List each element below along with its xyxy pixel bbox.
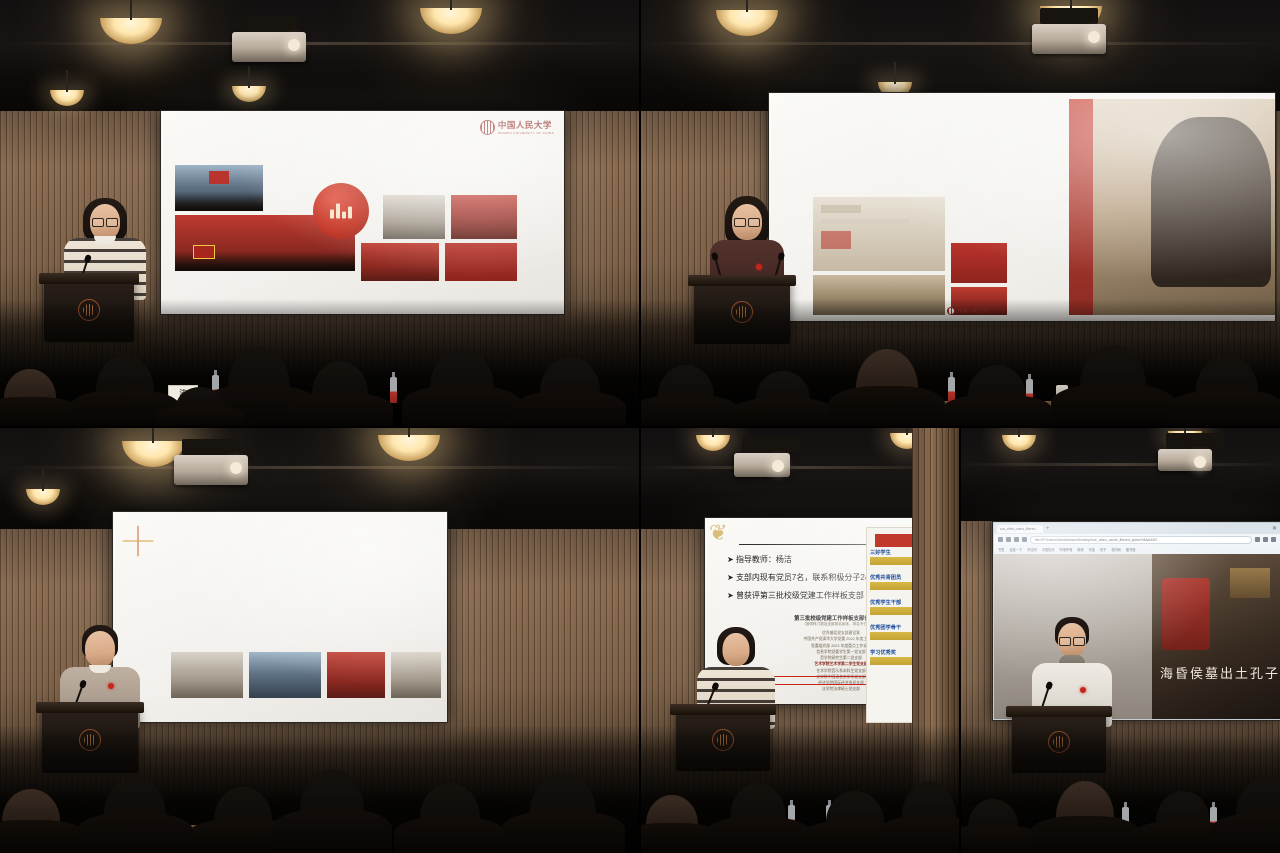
ceiling-projector <box>1158 449 1212 471</box>
glasses-icon <box>1059 637 1085 644</box>
maximize-icon[interactable] <box>1263 537 1268 542</box>
university-logo: 中国人民大学 RENMIN UNIVERSITY OF CHINA <box>480 119 554 135</box>
slide-photo-activity <box>951 243 1007 283</box>
bookmark-item[interactable]: 微博 <box>1077 547 1083 552</box>
bookmark-item[interactable]: 书签 <box>998 547 1004 552</box>
audience-head <box>1080 345 1146 427</box>
bookmark-item[interactable]: 知乎 <box>1100 547 1106 552</box>
photo-collage: 强化理论武装，夯实思想根基 中国人民大学 RENMIN UNIVERSITY O… <box>0 0 1280 853</box>
ornament-icon: ❦ <box>709 522 727 544</box>
audience-head <box>214 787 272 853</box>
collage-seam-vertical <box>959 427 961 853</box>
panel-top-right: 02 党建与专业深度融合 党建引领设计实践，服务社会与校园 • 艺术振兴乡村 "… <box>640 0 1280 427</box>
audience-head <box>968 365 1026 427</box>
head <box>723 633 750 666</box>
ceiling-projector <box>1032 24 1106 54</box>
slide-photo-room <box>383 195 445 239</box>
projection-screen: 02 党建与专业深度融合 党建引领设计实践，服务社会与校园 • 艺术振兴乡村 "… <box>768 92 1276 322</box>
slide-photo-group <box>361 243 439 281</box>
browser-toolbar: file:///F:/Users/Administrator/Desktop/h… <box>994 534 1280 545</box>
forward-icon[interactable] <box>1006 537 1011 542</box>
audience-head <box>902 781 956 853</box>
audience-head <box>1056 781 1114 853</box>
audience-head <box>756 371 810 427</box>
video-caption: 海昏侯墓出土孔子衣镜 <box>1160 663 1280 682</box>
bookmark-item[interactable]: 中国知网 <box>1042 547 1055 552</box>
audience-head <box>730 783 786 853</box>
audience-head <box>856 349 918 427</box>
video-frame <box>1152 554 1280 719</box>
audience-head <box>530 773 596 853</box>
close-icon[interactable]: ✕ <box>1272 526 1277 532</box>
audience-head <box>646 795 698 853</box>
ceiling-projector <box>232 32 306 62</box>
lapel-pin <box>756 264 762 270</box>
lock-icon <box>1022 537 1027 542</box>
slide-bullet-1: ➤ 指导教师：杨洁 <box>727 554 792 565</box>
audience-head <box>540 357 600 427</box>
slide-photo-group <box>451 195 517 239</box>
audience-head <box>96 355 154 427</box>
audience-head <box>300 769 364 853</box>
panel-top-left: 强化理论武装，夯实思想根基 中国人民大学 RENMIN UNIVERSITY O… <box>0 0 640 427</box>
university-seal-icon <box>480 120 495 135</box>
bookmark-item[interactable]: 图书馆 <box>1126 547 1136 552</box>
audience-head <box>826 791 884 853</box>
bookmark-item[interactable]: 淘宝 <box>1089 547 1095 552</box>
window-close-icon[interactable] <box>1271 537 1276 542</box>
back-icon[interactable] <box>998 537 1003 542</box>
slide-photo-room <box>391 652 441 698</box>
browser-tab-strip: cus_video_carbs_filtered... + ✕ <box>994 523 1280 534</box>
audience-head <box>104 777 166 853</box>
panel-bottom-left: （二）以组织建设为抓手，夯实基层 规范党员发展与培养 坚持"成熟一个发展一个"的… <box>0 427 640 853</box>
slide-photo-banner <box>445 243 517 281</box>
collage-seam-horizontal <box>0 426 1280 428</box>
slide-bullet-3: ➤ 曾获评第三批校级党建工作样板支部 <box>727 590 864 601</box>
slide-infographic-circle <box>313 183 369 239</box>
audience-head <box>1156 791 1210 853</box>
glasses-icon <box>734 218 760 225</box>
reload-icon[interactable] <box>1014 537 1019 542</box>
audience-head <box>420 783 480 853</box>
audience-head <box>2 789 60 853</box>
new-tab-button[interactable]: + <box>1046 526 1050 532</box>
audience-head <box>1196 355 1258 427</box>
slide-bullet-2: ➤ 支部内现有党员7名，联系积极分子24名 <box>727 572 877 583</box>
bookmark-item[interactable]: 学信网 <box>1027 547 1037 552</box>
ceiling <box>0 0 640 111</box>
slide-photo-poster <box>813 197 945 271</box>
slide-photo-room <box>171 652 243 698</box>
audience-head <box>968 799 1018 853</box>
ceiling-projector <box>734 453 790 477</box>
browser-tab[interactable]: cus_video_carbs_filtered... <box>997 525 1043 533</box>
head <box>85 631 115 667</box>
bookmark-item[interactable]: 百度一下 <box>1009 547 1022 552</box>
bookmark-item[interactable]: 校内网 <box>1111 547 1121 552</box>
lapel-pin <box>108 683 114 689</box>
audience-head <box>4 369 56 427</box>
glasses-icon <box>92 218 118 225</box>
audience-head <box>312 361 368 427</box>
water-bottle <box>390 377 397 403</box>
audience-head <box>176 387 224 427</box>
slide-photo-people <box>1069 99 1276 315</box>
panel-bottom-middle: ❦ arts• ➤ 指导教师：杨洁 ➤ 支部内现有党员7名，联系积极分子24名 … <box>640 427 960 853</box>
projection-screen: 强化理论武装，夯实思想根基 中国人民大学 RENMIN UNIVERSITY O… <box>160 110 565 315</box>
audience-head <box>658 365 714 427</box>
bookmark-item[interactable]: 哔哩哔哩 <box>1059 547 1072 552</box>
bookmarks-bar: 书签 百度一下 学信网 中国知网 哔哩哔哩 微博 淘宝 知乎 校内网 图书馆 <box>994 545 1280 554</box>
bar-icon <box>330 204 352 219</box>
slide-photo-group <box>327 652 385 698</box>
slide-photo-classroom <box>175 165 263 211</box>
address-bar[interactable]: file:///F:/Users/Administrator/Desktop/h… <box>1030 536 1252 544</box>
slide-photo-classroom <box>249 652 321 698</box>
panel-bottom-right: cus_video_carbs_filtered... + ✕ file:///… <box>960 427 1280 853</box>
projection-screen: （二）以组织建设为抓手，夯实基层 规范党员发展与培养 坚持"成熟一个发展一个"的… <box>112 511 448 723</box>
minimize-icon[interactable] <box>1255 537 1260 542</box>
ceiling-projector <box>174 455 248 485</box>
lapel-pin <box>1080 687 1086 693</box>
audience-head <box>430 349 494 427</box>
